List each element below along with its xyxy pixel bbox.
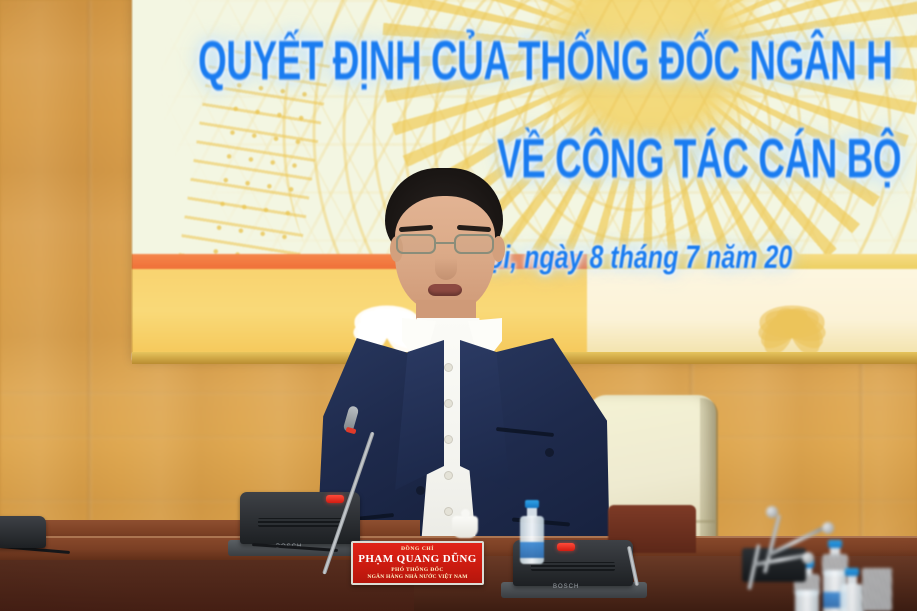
nameplate: ĐỒNG CHÍ PHẠM QUANG DŨNG PHÓ THỐNG ĐỐC N… (351, 541, 484, 585)
nameplate-title: PHÓ THỐNG ĐỐC (391, 567, 443, 573)
nose (435, 258, 457, 280)
eyeglasses-icon (396, 234, 496, 254)
conference-photo: QUYẾT ĐỊNH CỦA THỐNG ĐỐC NGÂN H VỀ CÔNG … (0, 0, 917, 611)
mouth (428, 284, 462, 296)
microphone-stand-cluster (742, 500, 852, 580)
mic-indicator-light[interactable] (557, 543, 575, 551)
jacket-button (545, 448, 554, 457)
screen-headline-line-1: QUYẾT ĐỊNH CỦA THỐNG ĐỐC NGÂN H (198, 30, 892, 93)
mic-indicator-light[interactable] (326, 495, 344, 503)
lotus-right-icon (707, 284, 877, 340)
nameplate-name: PHẠM QUANG DŨNG (358, 553, 476, 565)
teacup-lid-knob (461, 509, 470, 518)
napkin-holder (862, 568, 892, 611)
nameplate-organization: NGÂN HÀNG NHÀ NƯỚC VIỆT NAM (367, 574, 467, 580)
jacket-button (416, 486, 425, 495)
teacup (452, 516, 478, 538)
mic-brand-label-right: BOSCH (553, 584, 579, 590)
nameplate-line-1: ĐỒNG CHÍ (401, 546, 434, 552)
